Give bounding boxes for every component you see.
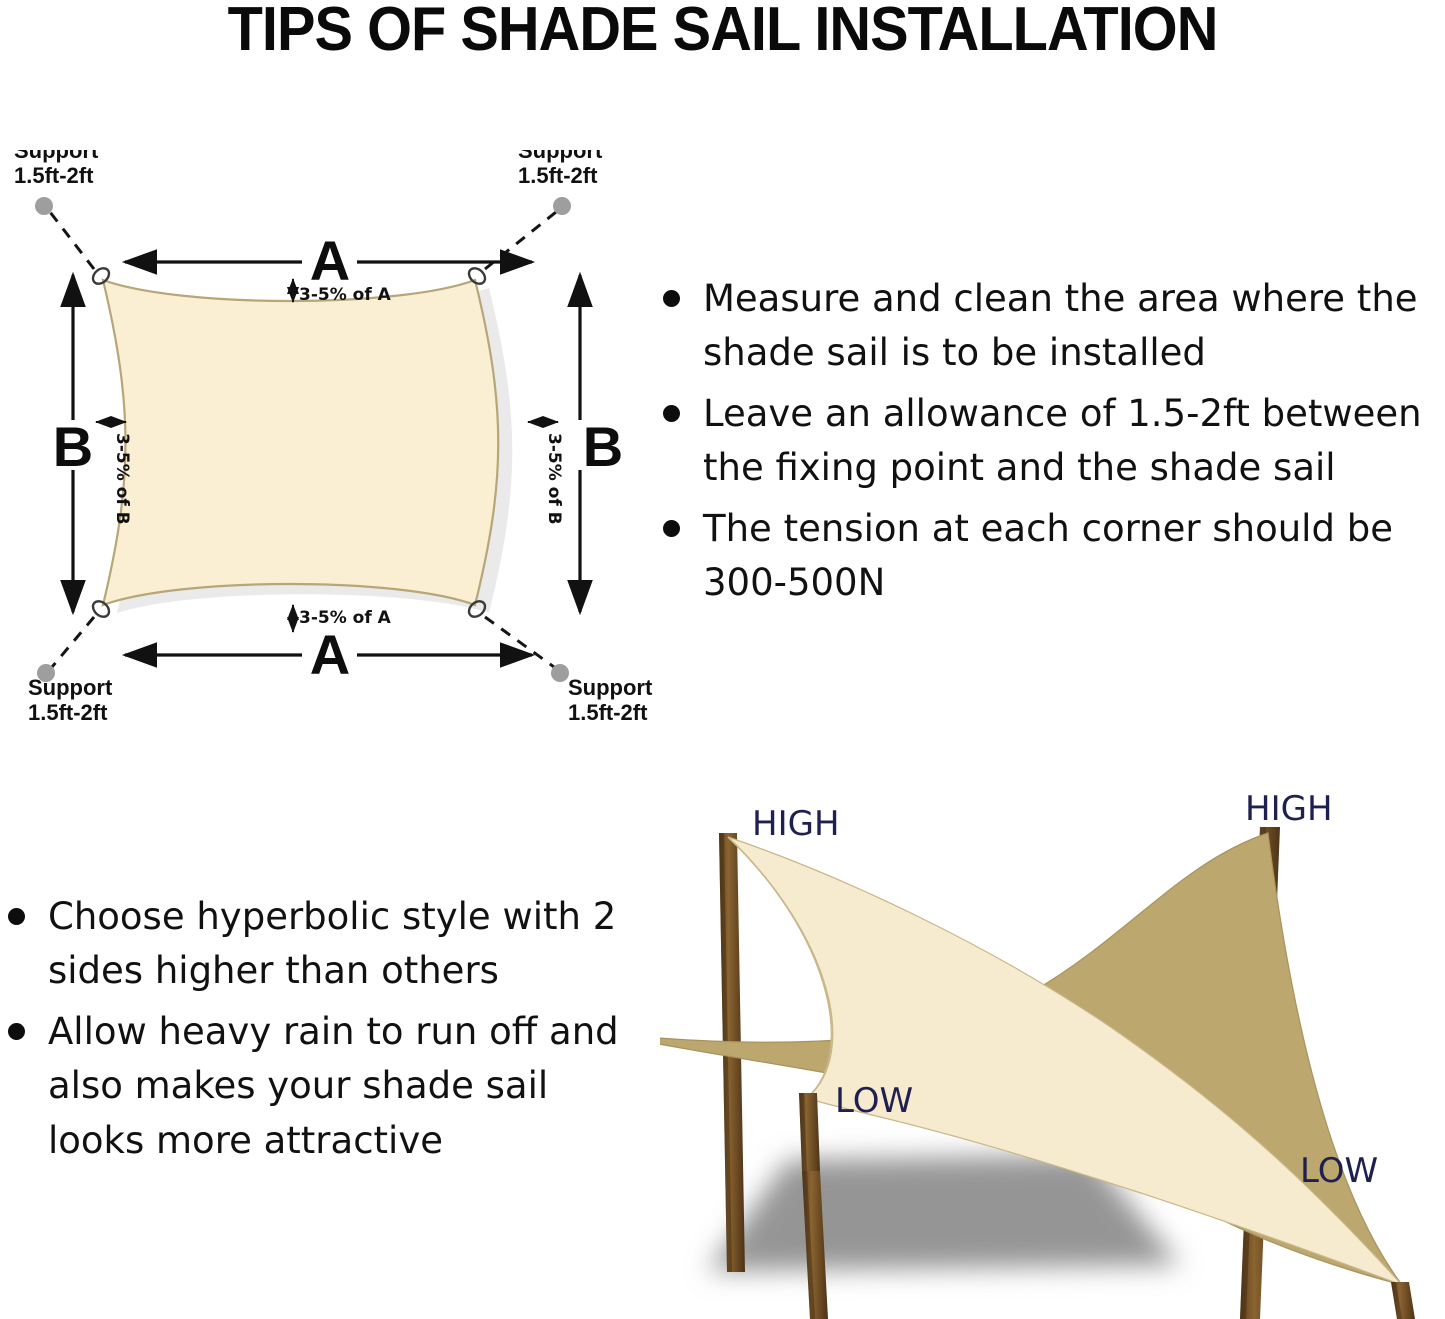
tip-text: Choose hyperbolic style with 2 sides hig… [48,895,616,992]
support-label-bottom-left-line1: Support [28,675,113,700]
bullet-dot-icon [663,290,680,307]
support-label-top-right-line2: 1.5ft-2ft [518,163,598,188]
shade-sail-shape [103,280,498,605]
bullet-dot-icon [8,908,25,925]
label-a-bottom: A [310,623,350,686]
list-item: Allow heavy rain to run off and also mak… [0,1005,620,1168]
support-label-top-left-line1: Support [14,150,99,163]
pole-low-right [1391,1282,1415,1319]
label-curvature-left: 3-5% of B [112,433,132,525]
bullet-dot-icon [663,405,680,422]
bullet-dot-icon [8,1023,25,1040]
label-low-left: LOW [835,1081,913,1121]
list-item: Choose hyperbolic style with 2 sides hig… [0,890,620,999]
tip-text: Leave an allowance of 1.5-2ft between th… [703,392,1422,489]
tip-text: The tension at each corner should be 300… [703,507,1393,604]
rectangular-sail-diagram: A 3-5% of A A 3-5% of A B 3-5% of B [0,150,660,720]
tips-list-right: Measure and clean the area where the sha… [645,272,1445,616]
bullet-dot-icon [663,520,680,537]
label-curvature-bottom: 3-5% of A [299,608,392,628]
label-high-right: HIGH [1245,789,1333,829]
support-label-bottom-left-line2: 1.5ft-2ft [28,700,108,720]
support-label-top-right-line1: Support [518,150,603,163]
list-item: The tension at each corner should be 300… [645,502,1445,611]
support-label-bottom-right-line2: 1.5ft-2ft [568,700,648,720]
label-a-top: A [310,229,350,292]
list-item: Measure and clean the area where the sha… [645,272,1445,381]
support-label-bottom-right-line1: Support [568,675,653,700]
label-b-left: B [53,415,93,478]
infographic-page: TIPS OF SHADE SAIL INSTALLATION [0,0,1445,1319]
label-curvature-right: 3-5% of B [544,433,564,525]
tip-text: Measure and clean the area where the sha… [703,277,1418,374]
label-b-right: B [583,415,623,478]
tips-list-left: Choose hyperbolic style with 2 sides hig… [0,890,620,1174]
hyperbolic-sail-illustration: HIGH HIGH LOW LOW [660,785,1445,1319]
label-curvature-top: 3-5% of A [299,285,392,305]
list-item: Leave an allowance of 1.5-2ft between th… [645,387,1445,496]
label-high-left: HIGH [752,804,840,844]
support-label-top-left-line2: 1.5ft-2ft [14,163,94,188]
label-low-right: LOW [1300,1151,1378,1191]
page-title: TIPS OF SHADE SAIL INSTALLATION [51,0,1395,65]
pole-low-left [799,1093,820,1171]
tip-text: Allow heavy rain to run off and also mak… [48,1010,619,1162]
